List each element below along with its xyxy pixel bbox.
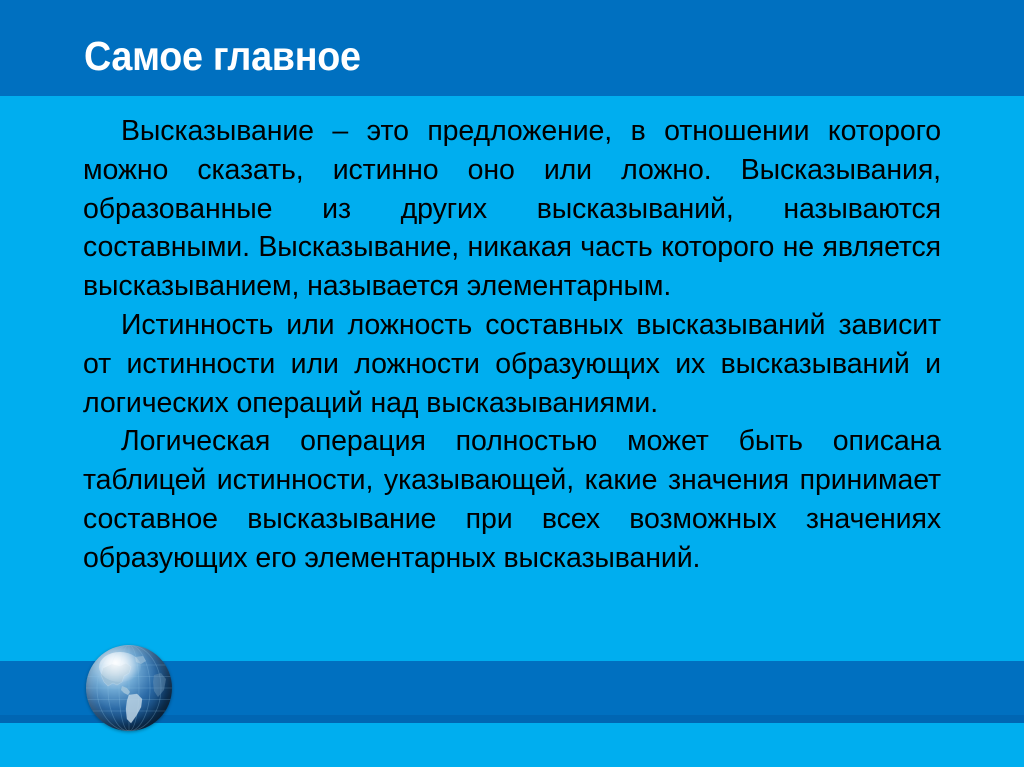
- page-title: Самое главное: [84, 31, 361, 81]
- paragraph-1: Высказывание – это предложение, в отноше…: [83, 112, 941, 306]
- slide: Самое главное Высказывание – это предлож…: [0, 0, 1024, 767]
- paragraph-3: Логическая операция полностью может быть…: [83, 422, 941, 577]
- paragraph-2: Истинность или ложность составных высказ…: [83, 306, 941, 422]
- body-text-block: Высказывание – это предложение, в отноше…: [83, 112, 941, 578]
- globe-icon: [86, 645, 172, 731]
